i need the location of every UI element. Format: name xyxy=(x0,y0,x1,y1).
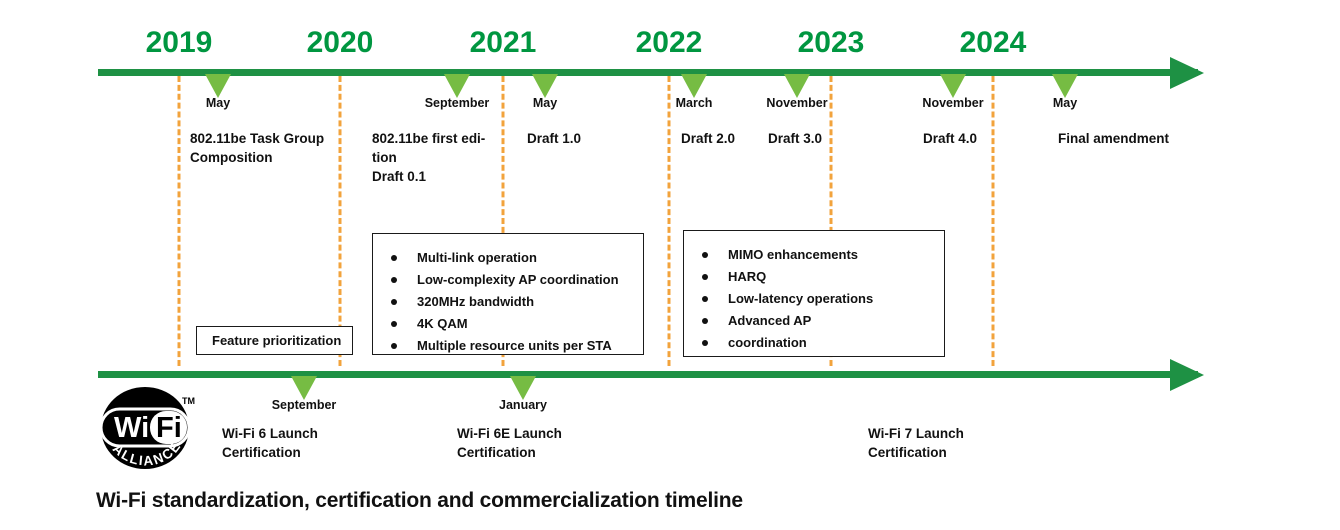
release-1-features-item-0: Multi-link operation xyxy=(417,248,643,268)
standardization-timeline-bar xyxy=(98,69,1198,76)
release-1-features-item-4: Multiple resource units per STA xyxy=(417,336,643,356)
standardization-marker-1 xyxy=(444,74,470,98)
certification-timeline-arrow xyxy=(1170,359,1204,391)
standardization-marker-3 xyxy=(681,74,707,98)
standardization-event-0: 802.11be Task GroupComposition xyxy=(190,129,324,167)
feature-prioritization-box: Feature prioritization xyxy=(196,326,353,355)
release-1-features-item-2: 320MHz bandwidth xyxy=(417,292,643,312)
release-2-features-item-2: Low-latency operations xyxy=(728,289,944,309)
standardization-month-3: March xyxy=(676,96,713,110)
year-label-2019: 2019 xyxy=(146,28,213,58)
release-2-features-item-0: MIMO enhancements xyxy=(728,245,944,265)
certification-timeline-bar xyxy=(98,371,1198,378)
standardization-month-1: September xyxy=(425,96,490,110)
standardization-month-2: May xyxy=(533,96,557,110)
year-separator-2020 xyxy=(339,76,342,366)
certification-month-1: January xyxy=(499,398,547,412)
standardization-event-6: Final amendment xyxy=(1058,129,1169,148)
standardization-month-0: May xyxy=(206,96,230,110)
standardization-event-3: Draft 2.0 xyxy=(681,129,735,148)
standardization-event-2: Draft 1.0 xyxy=(527,129,581,148)
year-separator-2022 xyxy=(668,76,671,366)
feature-prioritization-label: Feature prioritization xyxy=(212,333,341,348)
year-separator-2024 xyxy=(992,76,995,366)
year-label-2024: 2024 xyxy=(960,28,1027,58)
standardization-marker-4 xyxy=(784,74,810,98)
release-2-features-item-4: coordination xyxy=(728,333,944,353)
standardization-month-6: May xyxy=(1053,96,1077,110)
standardization-marker-6 xyxy=(1052,74,1078,98)
wifi-alliance-logo-svg: Wi Fi ALLIANCE TM xyxy=(96,386,200,470)
certification-month-0: September xyxy=(272,398,337,412)
year-label-2023: 2023 xyxy=(798,28,865,58)
svg-text:Wi: Wi xyxy=(114,412,149,444)
certification-marker-0 xyxy=(291,376,317,400)
release-2-feature-list: MIMO enhancementsHARQLow-latency operati… xyxy=(684,231,944,353)
standardization-timeline-arrow xyxy=(1170,57,1204,89)
standardization-month-5: November xyxy=(922,96,983,110)
standardization-event-1: 802.11be first edi-tionDraft 0.1 xyxy=(372,129,485,186)
standardization-month-4: November xyxy=(766,96,827,110)
svg-text:TM: TM xyxy=(182,396,195,406)
certification-event-0: Wi-Fi 6 LaunchCertification xyxy=(222,424,318,462)
timeline-diagram: 201920202021202220232024 May802.11be Tas… xyxy=(0,0,1340,530)
standardization-event-5: Draft 4.0 xyxy=(923,129,977,148)
svg-text:Fi: Fi xyxy=(156,412,182,444)
certification-marker-1 xyxy=(510,376,536,400)
wifi-alliance-logo: Wi Fi ALLIANCE TM xyxy=(96,386,200,470)
certification-event-2: Wi-Fi 7 LaunchCertification xyxy=(868,424,964,462)
year-label-2021: 2021 xyxy=(470,28,537,58)
standardization-marker-0 xyxy=(205,74,231,98)
release-1-feature-list: Multi-link operationLow-complexity AP co… xyxy=(373,234,643,356)
diagram-caption: Wi-Fi standardization, certification and… xyxy=(96,489,743,513)
standardization-marker-2 xyxy=(532,74,558,98)
release-1-features-item-3: 4K QAM xyxy=(417,314,643,334)
release-2-features-item-3: Advanced AP xyxy=(728,311,944,331)
release-1-feature-box: Multi-link operationLow-complexity AP co… xyxy=(372,233,644,355)
year-separator-2019 xyxy=(178,76,181,366)
release-2-feature-box: MIMO enhancementsHARQLow-latency operati… xyxy=(683,230,945,357)
standardization-event-4: Draft 3.0 xyxy=(768,129,822,148)
release-2-features-item-1: HARQ xyxy=(728,267,944,287)
release-1-features-item-1: Low-complexity AP coordination xyxy=(417,270,643,290)
certification-event-1: Wi-Fi 6E LaunchCertification xyxy=(457,424,562,462)
year-label-2020: 2020 xyxy=(307,28,374,58)
standardization-marker-5 xyxy=(940,74,966,98)
year-label-2022: 2022 xyxy=(636,28,703,58)
